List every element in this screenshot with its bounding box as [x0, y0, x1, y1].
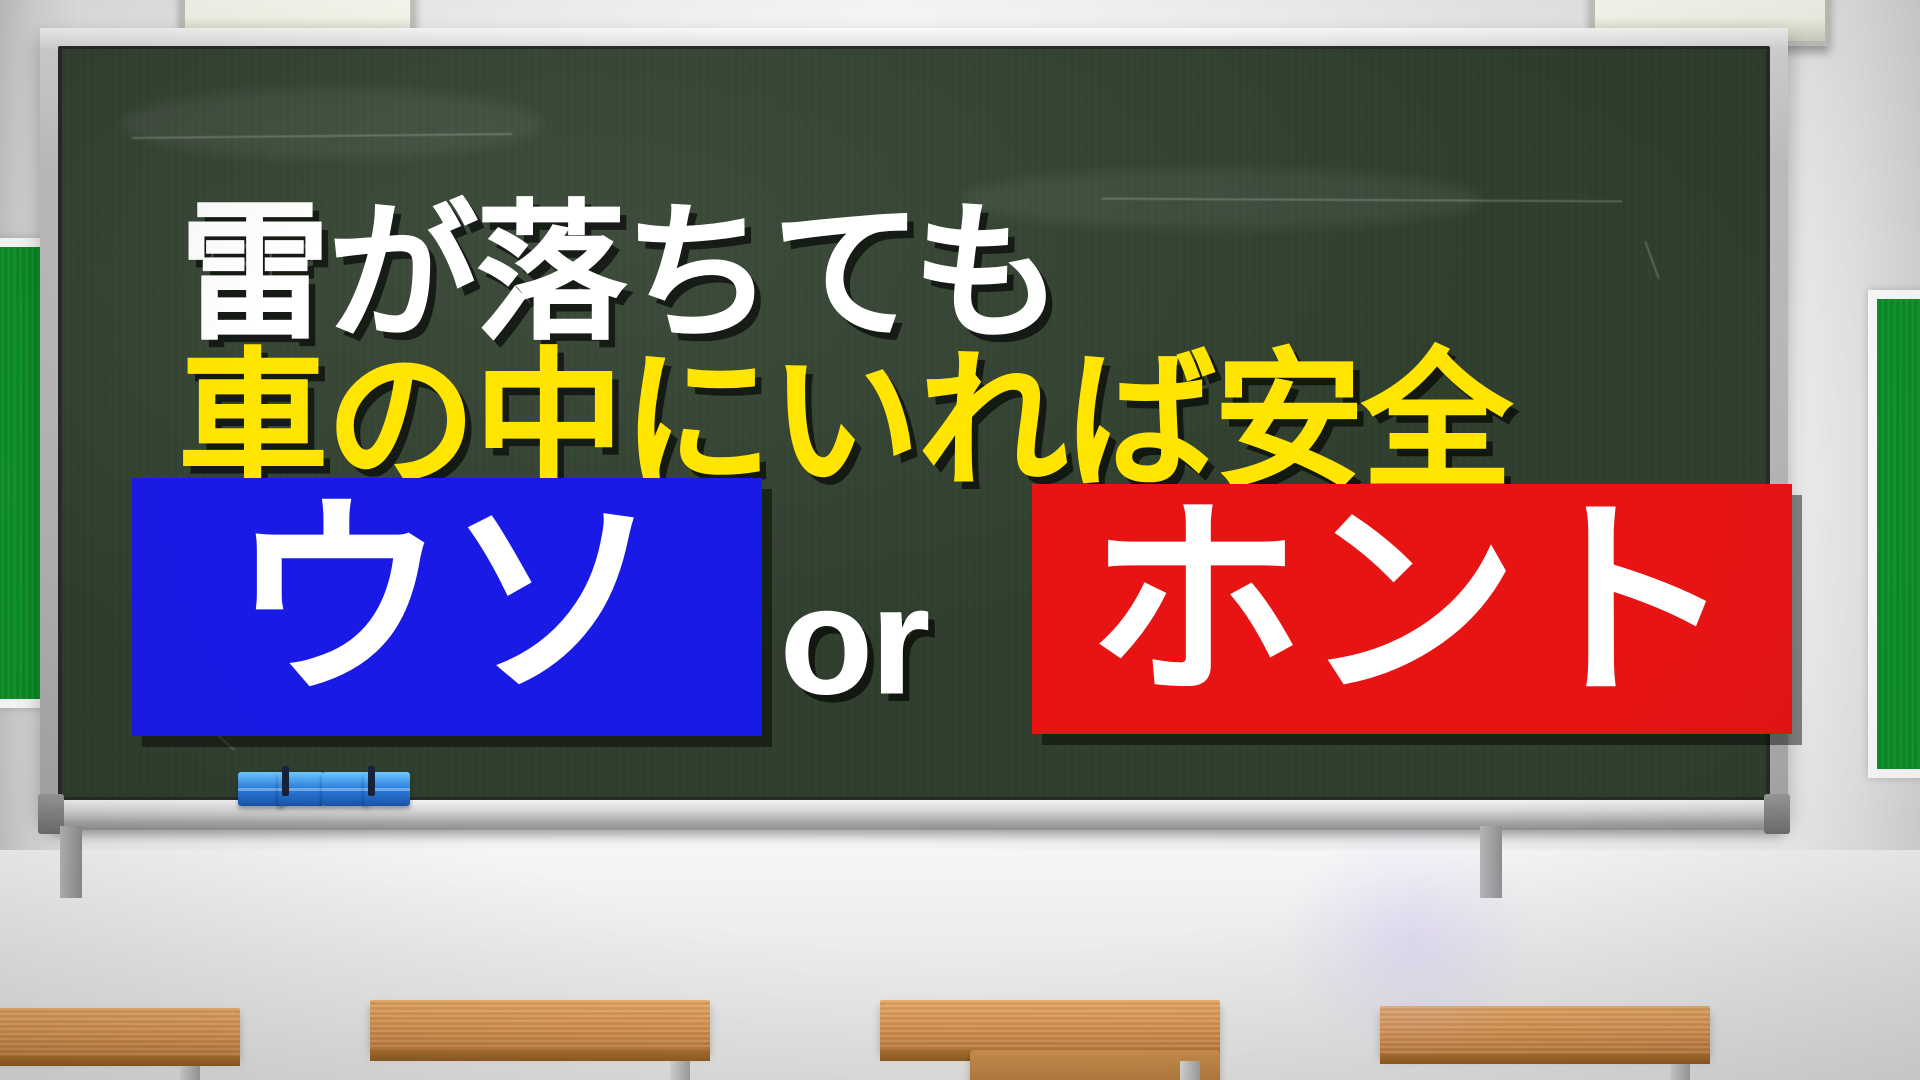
blackboard-leg-right	[1480, 826, 1502, 898]
answer-option-honto[interactable]: ホント	[1032, 484, 1792, 734]
screenshot-root: 雷が落ちても 車の中にいれば安全 ウソ or ホント	[0, 0, 1920, 1080]
blackboard-eraser	[322, 772, 368, 806]
answer-conjunction-or: or	[780, 554, 928, 729]
eraser-handle-band	[368, 766, 375, 796]
eraser-handle-band	[282, 766, 289, 796]
answer-option-uso[interactable]: ウソ	[132, 478, 762, 736]
answer-option-honto-label: ホント	[1088, 505, 1736, 702]
blackboard-leg-left	[60, 826, 82, 898]
answer-choice-row: ウソ or ホント	[0, 476, 1920, 756]
chalk-tray-endcap-right	[1764, 794, 1790, 834]
answer-option-uso-label: ウソ	[231, 503, 663, 700]
